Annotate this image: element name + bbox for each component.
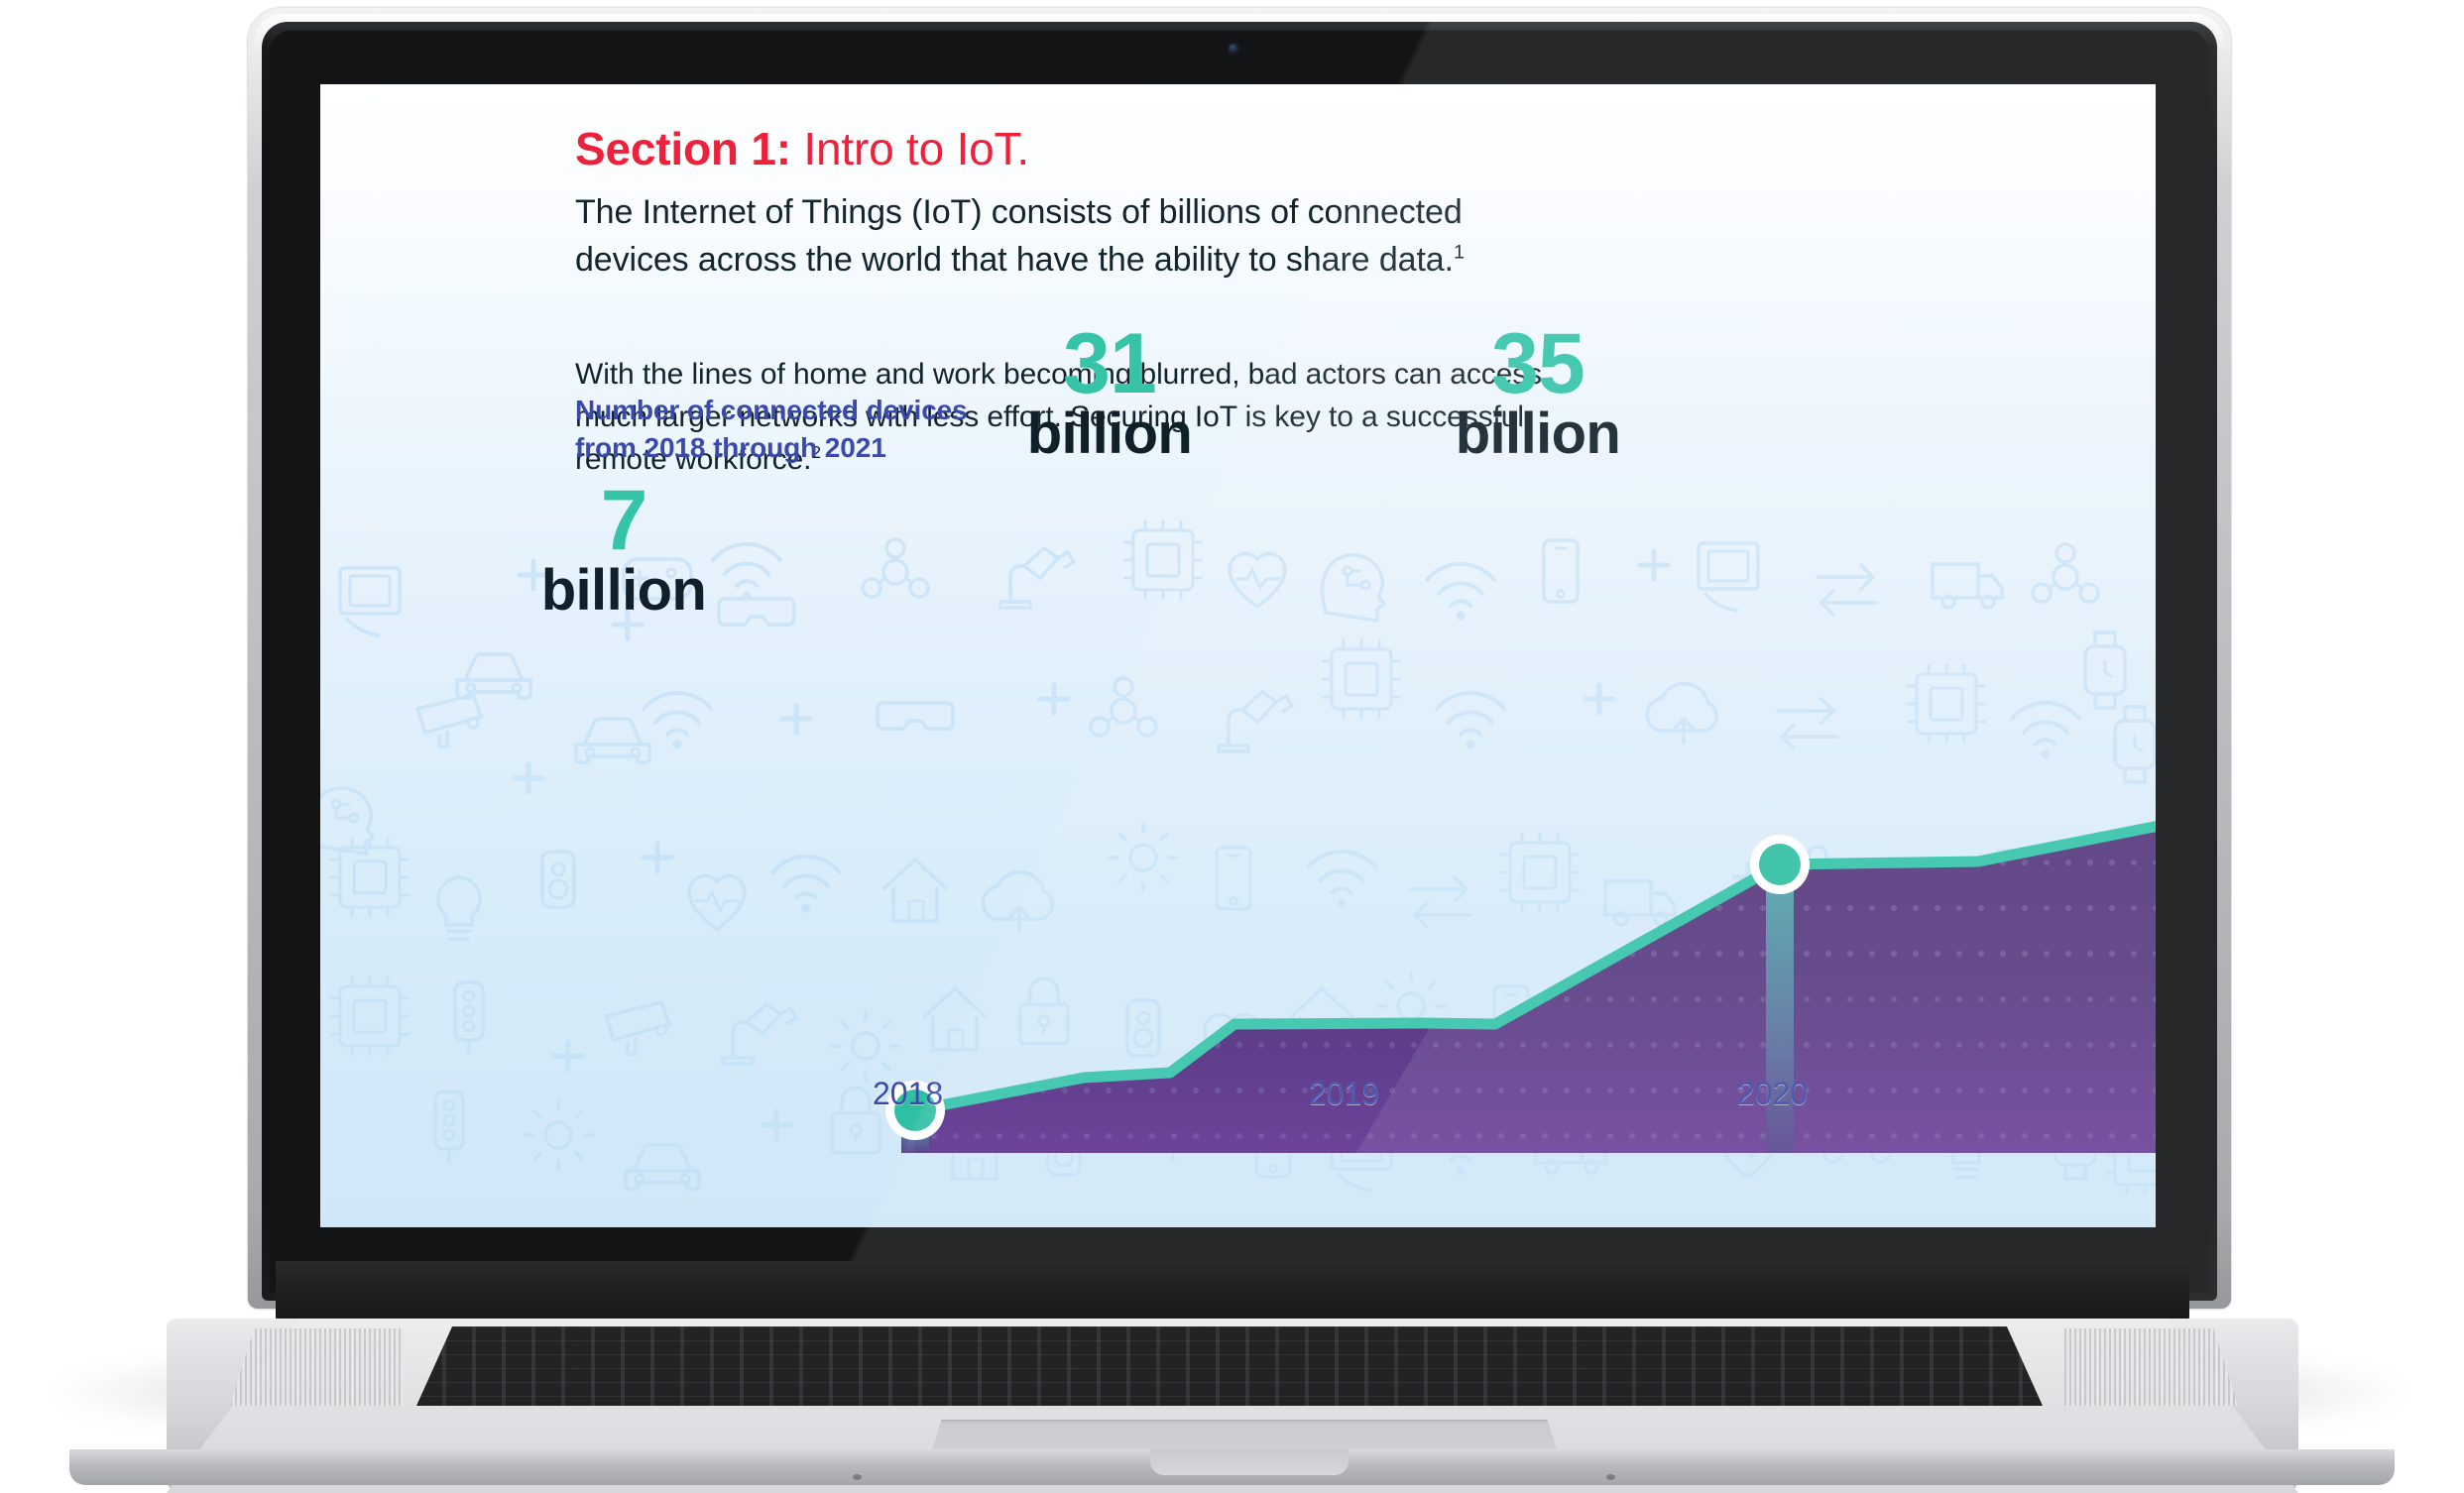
connected-devices-chart: 2018 2019 2020 2021 [320,84,2156,1227]
webcam-icon [1229,44,1238,54]
callout-unit-2020: billion [981,405,1238,463]
chart-svg [320,84,2156,1227]
data-callout-2021: 35 billion [1409,324,1667,463]
speaker-grille-left [230,1328,404,1406]
callout-value-2021: 35 [1409,324,1667,405]
axis-tick-2020: 2020 [1737,1076,1808,1112]
chart-glare-overlay [1332,739,2156,1195]
screenshot-root: Section 1: Intro to IoT. The Internet of… [0,0,2464,1490]
callout-value-2018: 7 [495,481,753,562]
data-callout-2020: 31 billion [981,324,1238,463]
data-callout-2018: 7 billion [495,481,753,620]
speaker-grille-right [2064,1328,2238,1406]
laptop-hinge [276,1261,2189,1322]
laptop-foot-right [1606,1474,1615,1480]
chart-marker-2020[interactable] [1750,835,1810,894]
axis-tick-2019: 2019 [1309,1076,1379,1112]
callout-unit-2021: billion [1409,405,1667,463]
keyboard-rows [416,1326,2043,1406]
slide-content: Section 1: Intro to IoT. The Internet of… [320,84,2156,1227]
callout-unit-2018: billion [495,562,753,620]
laptop-foot-left [853,1474,862,1480]
laptop-screen: Section 1: Intro to IoT. The Internet of… [320,84,2156,1227]
laptop-device: Section 1: Intro to IoT. The Internet of… [0,0,2464,1490]
laptop-front-notch [1150,1449,1349,1475]
axis-tick-2018: 2018 [873,1076,943,1112]
callout-value-2020: 31 [981,324,1238,405]
